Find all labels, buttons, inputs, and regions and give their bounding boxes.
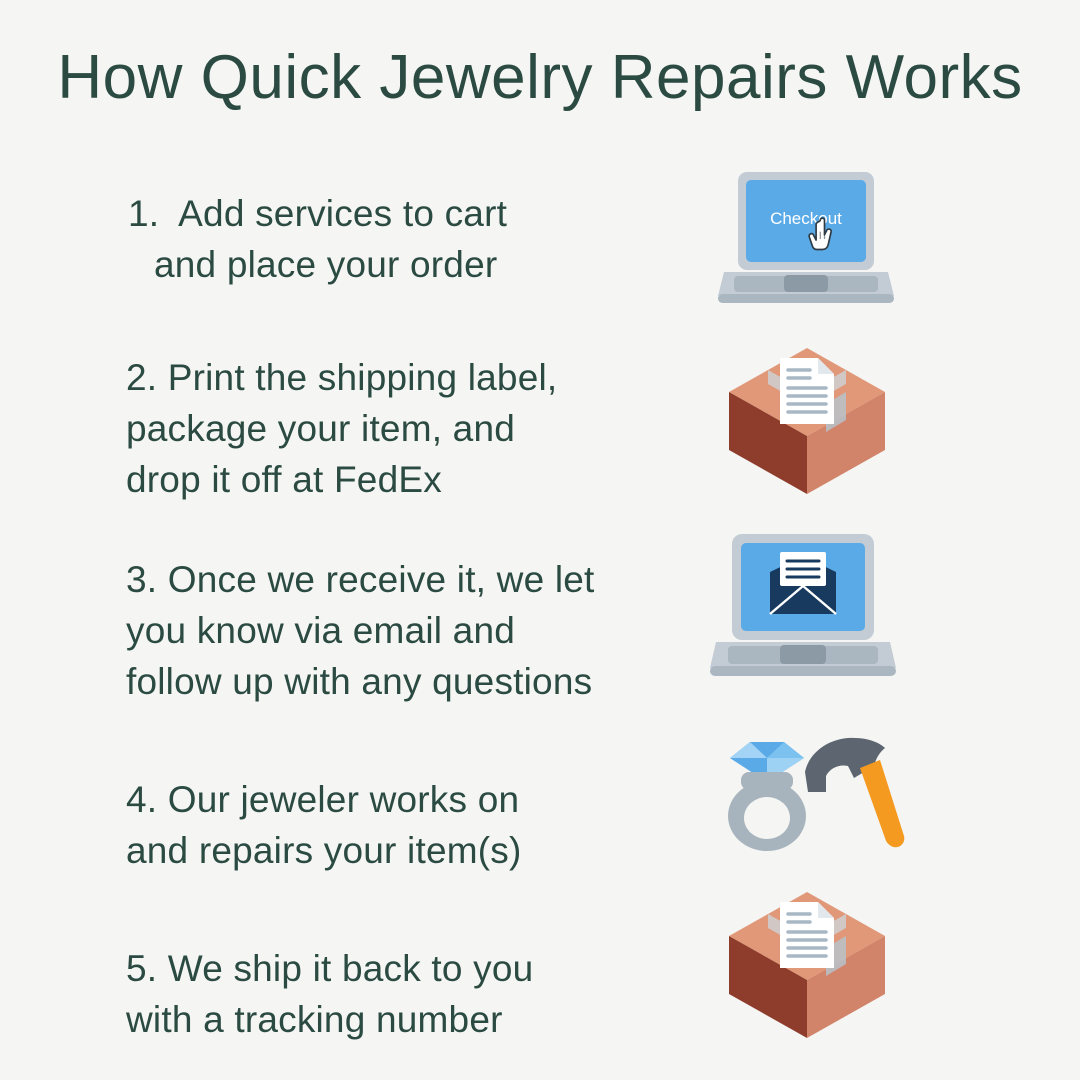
laptop-email-svg xyxy=(708,528,898,693)
step-4-line-1: 4. Our jeweler works on xyxy=(126,774,640,825)
laptop-screen-label: Checkout xyxy=(770,209,842,228)
step-4-text: 4. Our jeweler works onand repairs your … xyxy=(0,774,640,876)
laptop-checkout-svg: Checkout xyxy=(716,168,896,318)
step-1-text: 1. Add services to cartand place your or… xyxy=(0,188,640,290)
step-4-line-2: and repairs your item(s) xyxy=(126,825,640,876)
step-3-line-3: follow up with any questions xyxy=(126,656,640,707)
shipping-label-document xyxy=(780,902,834,968)
page-title: How Quick Jewelry Repairs Works xyxy=(0,42,1080,113)
step-item-3: 3. Once we receive it, we letyou know vi… xyxy=(0,554,640,707)
step-2-text: 2. Print the shipping label,package your… xyxy=(0,352,640,505)
diamond-ring-icon xyxy=(728,742,806,851)
step-3-text: 3. Once we receive it, we letyou know vi… xyxy=(0,554,640,707)
step-2-line-2: package your item, and xyxy=(126,403,640,454)
hammer-icon xyxy=(805,738,904,847)
step-item-2: 2. Print the shipping label,package your… xyxy=(0,352,640,505)
step-item-4: 4. Our jeweler works onand repairs your … xyxy=(0,774,640,876)
package-box-label-icon-2 xyxy=(660,886,1080,1046)
step-3-line-2: you know via email and xyxy=(126,605,640,656)
ring-hammer-icon xyxy=(660,732,1080,857)
step-item-1: 1. Add services to cartand place your or… xyxy=(0,188,640,290)
package-box-svg-1 xyxy=(722,342,892,502)
step-1-line-1: 1. Add services to cart xyxy=(128,188,640,239)
step-5-text: 5. We ship it back to youwith a tracking… xyxy=(0,943,640,1045)
package-box-label-icon-1 xyxy=(660,342,1080,502)
laptop-email-icon xyxy=(660,528,1080,693)
laptop-checkout-icon: Checkout xyxy=(660,168,1080,318)
step-5-line-1: 5. We ship it back to you xyxy=(126,943,640,994)
package-box-svg-2 xyxy=(722,886,892,1046)
step-item-5: 5. We ship it back to youwith a tracking… xyxy=(0,943,640,1045)
step-2-line-3: drop it off at FedEx xyxy=(126,454,640,505)
ring-hammer-svg xyxy=(708,732,923,857)
step-2-line-1: 2. Print the shipping label, xyxy=(126,352,640,403)
steps-column: 1. Add services to cartand place your or… xyxy=(0,160,640,1060)
shipping-label-document xyxy=(780,358,834,424)
icons-column: Checkout xyxy=(660,160,1080,1060)
step-3-line-1: 3. Once we receive it, we let xyxy=(126,554,640,605)
step-5-line-2: with a tracking number xyxy=(126,994,640,1045)
infographic-page: How Quick Jewelry Repairs Works 1. Add s… xyxy=(0,0,1080,1080)
step-1-line-2: and place your order xyxy=(128,239,640,290)
